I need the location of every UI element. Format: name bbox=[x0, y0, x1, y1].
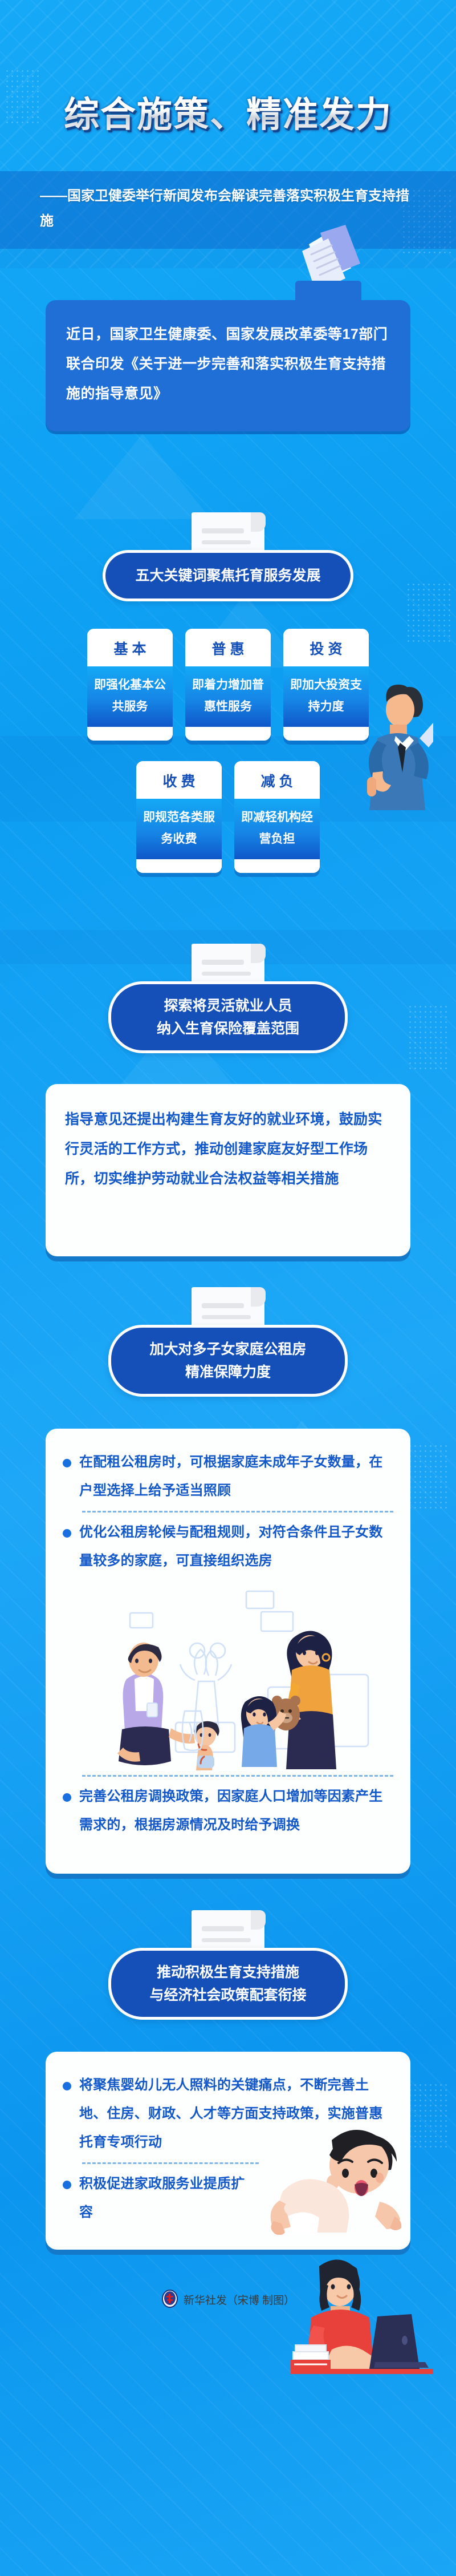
section1-heading-wrap: 五大关键词聚焦托育服务发展 bbox=[0, 550, 456, 601]
section2-heading-line1: 探索将灵活就业人员 bbox=[137, 994, 319, 1017]
section4-heading-line1: 推动积极生育支持措施 bbox=[137, 1961, 319, 1984]
keyword-title: 投资 bbox=[283, 629, 369, 666]
section2-heading-wrap: 探索将灵活就业人员 纳入生育保险覆盖范围 bbox=[0, 981, 456, 1053]
section4-heading-line2: 与经济社会政策配套衔接 bbox=[137, 1984, 319, 2007]
section3-heading-wrap: 加大对多子女家庭公租房 精准保障力度 bbox=[0, 1325, 456, 1397]
subtitle-band: ——国家卫健委举行新闻发布会解读完善落实积极生育支持措施 bbox=[0, 171, 456, 249]
list-divider bbox=[82, 1511, 393, 1513]
bullet-dot-icon bbox=[63, 1529, 71, 1538]
section3-body-card: 在配租公租房时，可根据家庭未成年子女数量，在户型选择上给予适当照顾 优化公租房轮… bbox=[46, 1429, 410, 1874]
keyword-title: 减负 bbox=[234, 761, 320, 799]
keyword-card: 投资 即加大投资支持力度 bbox=[283, 629, 369, 741]
intro-section: 近日，国家卫生健康委、国家发展改革委等17部门联合印发《关于进一步完善和落实积极… bbox=[0, 300, 456, 431]
bullet-dot-icon bbox=[63, 2181, 71, 2189]
bullet-text: 优化公租房轮候与配租规则，对符合条件且子女数量较多的家庭，可直接组织选房 bbox=[79, 1518, 393, 1575]
section2-heading-line2: 纳入生育保险覆盖范围 bbox=[137, 1017, 319, 1040]
keyword-title: 基本 bbox=[87, 629, 173, 666]
page-header: 综合施策、精准发力 ——国家卫健委举行新闻发布会解读完善落实积极生育支持措施 bbox=[0, 0, 456, 268]
keyword-card: 收费 即规范各类服务收费 bbox=[136, 761, 222, 873]
keyword-desc: 即加大投资支持力度 bbox=[283, 666, 369, 727]
list-item: 优化公租房轮候与配租规则，对符合条件且子女数量较多的家庭，可直接组织选房 bbox=[63, 1518, 393, 1575]
keyword-card: 基本 即强化基本公共服务 bbox=[87, 629, 173, 741]
keyword-card: 减负 即减轻机构经营负担 bbox=[234, 761, 320, 873]
section2-heading: 探索将灵活就业人员 纳入生育保险覆盖范围 bbox=[108, 981, 348, 1053]
section4-heading-wrap: 推动积极生育支持措施 与经济社会政策配套衔接 bbox=[0, 1948, 456, 2020]
bullet-dot-icon bbox=[63, 1459, 71, 1467]
bullet-text: 完善公租房调换政策，因家庭人口增加等因素产生需求的，根据房源情况及时给予调换 bbox=[79, 1782, 393, 1839]
keyword-card-footer bbox=[234, 859, 320, 873]
section3-heading-line2: 精准保障力度 bbox=[137, 1361, 319, 1384]
intro-text: 近日，国家卫生健康委、国家发展改革委等17部门联合印发《关于进一步完善和落实积极… bbox=[66, 326, 388, 402]
page-footer: 新华社发（宋博 制图） bbox=[0, 2284, 456, 2309]
page-subtitle: ——国家卫健委举行新闻发布会解读完善落实积极生育支持措施 bbox=[40, 184, 416, 234]
list-item: 在配租公租房时，可根据家庭未成年子女数量，在户型选择上给予适当照顾 bbox=[63, 1448, 393, 1505]
list-item: 完善公租房调换政策，因家庭人口增加等因素产生需求的，根据房源情况及时给予调换 bbox=[63, 1782, 393, 1857]
list-divider bbox=[82, 2162, 259, 2164]
keyword-desc: 即规范各类服务收费 bbox=[136, 799, 222, 859]
footer-credit: 新华社发（宋博 制图） bbox=[184, 2292, 295, 2307]
keyword-desc: 即着力增加普惠性服务 bbox=[185, 666, 271, 727]
family-illustration bbox=[63, 1575, 393, 1769]
page-title: 综合施策、精准发力 bbox=[0, 86, 456, 137]
section-flexible-employment: 探索将灵活就业人员 纳入生育保险覆盖范围 指导意见还提出构建生育友好的就业环境，… bbox=[0, 981, 456, 1256]
keyword-row-top: 基本 即强化基本公共服务 普惠 即着力增加普惠性服务 投资 即加大投资支持力度 bbox=[0, 629, 456, 741]
keyword-card-footer bbox=[87, 727, 173, 741]
section2-body-card: 指导意见还提出构建生育友好的就业环境，鼓励实行灵活的工作方式，推动创建家庭友好型… bbox=[46, 1084, 410, 1256]
keyword-title: 普惠 bbox=[185, 629, 271, 666]
section3-heading-line1: 加大对多子女家庭公租房 bbox=[137, 1338, 319, 1361]
section4-heading: 推动积极生育支持措施 与经济社会政策配套衔接 bbox=[108, 1948, 348, 2020]
list-divider bbox=[82, 1775, 393, 1777]
intro-panel: 近日，国家卫生健康委、国家发展改革委等17部门联合印发《关于进一步完善和落实积极… bbox=[46, 300, 410, 431]
bullet-dot-icon bbox=[63, 1793, 71, 1802]
keyword-card-footer bbox=[283, 727, 369, 741]
bullet-text: 积极促进家政服务业提质扩容 bbox=[79, 2170, 250, 2227]
section-toddler-care: 五大关键词聚焦托育服务发展 基本 即强化基本公共服务 普惠 即着力增加普惠性服务… bbox=[0, 550, 456, 873]
baby-illustration bbox=[262, 2121, 405, 2235]
section-policy-coordination: 推动积极生育支持措施 与经济社会政策配套衔接 将聚焦婴幼儿无人照料的关键痛点，不… bbox=[0, 1948, 456, 2250]
keyword-row-bottom: 收费 即规范各类服务收费 减负 即减轻机构经营负担 bbox=[0, 761, 456, 873]
background-triangle-1 bbox=[74, 434, 211, 519]
section3-heading: 加大对多子女家庭公租房 精准保障力度 bbox=[108, 1325, 348, 1397]
bullet-text: 在配租公租房时，可根据家庭未成年子女数量，在户型选择上给予适当照顾 bbox=[79, 1448, 393, 1505]
keyword-card: 普惠 即着力增加普惠性服务 bbox=[185, 629, 271, 741]
keyword-desc: 即强化基本公共服务 bbox=[87, 666, 173, 727]
section1-heading: 五大关键词聚焦托育服务发展 bbox=[103, 550, 353, 601]
section2-body-text: 指导意见还提出构建生育友好的就业环境，鼓励实行灵活的工作方式，推动创建家庭友好型… bbox=[65, 1105, 391, 1194]
section-public-rental-housing: 加大对多子女家庭公租房 精准保障力度 在配租公租房时，可根据家庭未成年子女数量，… bbox=[0, 1325, 456, 1874]
section4-body-card: 将聚焦婴幼儿无人照料的关键痛点，不断完善土地、住房、财政、人才等方面支持政策，实… bbox=[46, 2052, 410, 2250]
keyword-card-footer bbox=[136, 859, 222, 873]
xinhua-logo-icon bbox=[161, 2290, 178, 2309]
keyword-desc: 即减轻机构经营负担 bbox=[234, 799, 320, 859]
bullet-dot-icon bbox=[63, 2082, 71, 2090]
keyword-card-footer bbox=[185, 727, 271, 741]
keyword-title: 收费 bbox=[136, 761, 222, 799]
